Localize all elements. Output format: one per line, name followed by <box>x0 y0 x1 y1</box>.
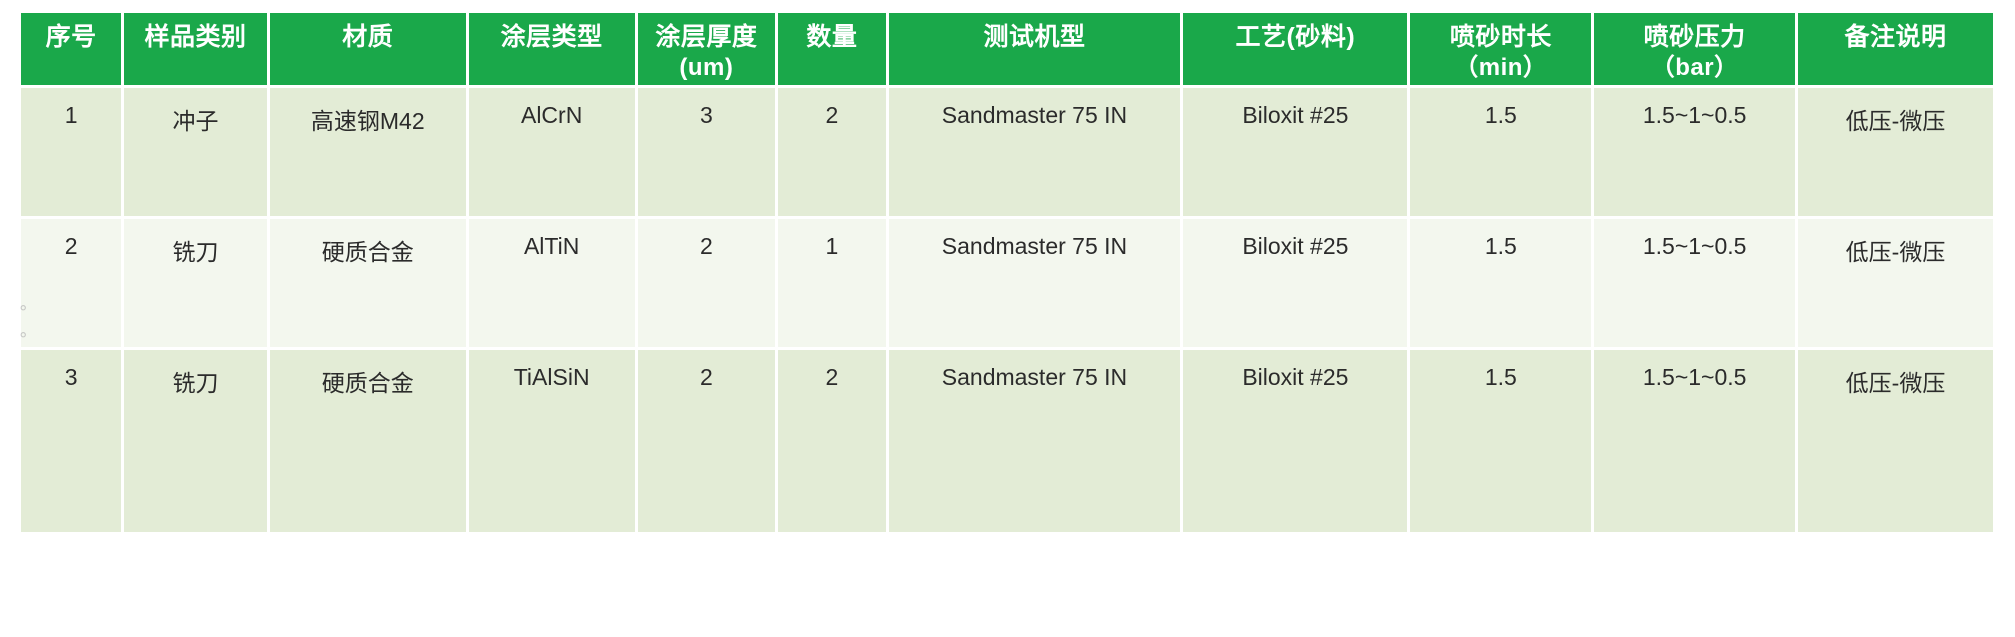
cell-note: 低压-微压 <box>1798 350 1993 532</box>
cell-process: Biloxit #25 <box>1183 88 1407 216</box>
cell-no: 1 <box>21 88 121 216</box>
cell-press: 1.5~1~0.5 <box>1594 350 1795 532</box>
cell-press: 1.5~1~0.5 <box>1594 219 1795 347</box>
cell-qty: 2 <box>778 350 885 532</box>
cell-time: 1.5 <box>1410 88 1591 216</box>
cell-time: 1.5 <box>1410 219 1591 347</box>
column-header-label: 涂层类型 <box>501 23 603 51</box>
cell-cat: 冲子 <box>124 88 266 216</box>
column-header-coat[interactable]: 涂层类型 <box>469 13 635 85</box>
edge-artifact-glyph: ∘ <box>18 325 29 344</box>
cell-cat: 铣刀 <box>124 219 266 347</box>
table-header-row: 序号 样品类别 材质 涂层类型 涂层厚度 (um) <box>21 13 1993 85</box>
column-header-label: 工艺(砂料) <box>1236 23 1356 51</box>
table-body: 1 冲子 高速钢M42 AlCrN 3 2 Sandmaster 75 IN B… <box>21 88 1993 532</box>
cell-machine: Sandmaster 75 IN <box>889 88 1181 216</box>
cell-mat: 硬质合金 <box>270 350 466 532</box>
column-header-mat[interactable]: 材质 <box>270 13 466 85</box>
column-header-machine[interactable]: 测试机型 <box>889 13 1181 85</box>
cell-process: Biloxit #25 <box>1183 350 1407 532</box>
table-row[interactable]: 2 铣刀 硬质合金 AlTiN 2 1 Sandmaster 75 IN Bil… <box>21 219 1993 347</box>
cell-machine: Sandmaster 75 IN <box>889 350 1181 532</box>
cell-press: 1.5~1~0.5 <box>1594 88 1795 216</box>
column-header-blast-pressure[interactable]: 喷砂压力 （bar） <box>1594 13 1795 85</box>
cell-qty: 1 <box>778 219 885 347</box>
column-header-cat[interactable]: 样品类别 <box>124 13 266 85</box>
column-header-label: 数量 <box>806 23 857 51</box>
cell-cat: 铣刀 <box>124 350 266 532</box>
cell-thick: 2 <box>638 350 776 532</box>
spec-table-container: ∘ ∘ 序号 样品类别 材质 <box>18 10 1996 623</box>
column-header-note[interactable]: 备注说明 <box>1798 13 1993 85</box>
cell-no: 3 <box>21 350 121 532</box>
cell-thick: 3 <box>638 88 776 216</box>
column-header-qty[interactable]: 数量 <box>778 13 885 85</box>
column-header-label: 样品类别 <box>145 23 247 51</box>
column-header-label: 备注说明 <box>1845 23 1947 51</box>
cell-process: Biloxit #25 <box>1183 219 1407 347</box>
cell-time: 1.5 <box>1410 350 1591 532</box>
column-header-unit: (um) <box>640 53 774 82</box>
table-row[interactable]: 1 冲子 高速钢M42 AlCrN 3 2 Sandmaster 75 IN B… <box>21 88 1993 216</box>
column-header-no[interactable]: 序号 <box>21 13 121 85</box>
column-header-label: 序号 <box>46 23 97 51</box>
column-header-unit: （min） <box>1412 53 1589 82</box>
cell-machine: Sandmaster 75 IN <box>889 219 1181 347</box>
edge-artifact-glyph: ∘ <box>18 298 29 317</box>
cell-no: 2 <box>21 219 121 347</box>
table-header: 序号 样品类别 材质 涂层类型 涂层厚度 (um) <box>21 13 1993 85</box>
cell-thick: 2 <box>638 219 776 347</box>
column-header-label: 喷砂压力 <box>1644 23 1746 51</box>
column-header-thickness[interactable]: 涂层厚度 (um) <box>638 13 776 85</box>
cell-mat: 高速钢M42 <box>270 88 466 216</box>
column-header-process[interactable]: 工艺(砂料) <box>1183 13 1407 85</box>
table-row[interactable]: 3 铣刀 硬质合金 TiAlSiN 2 2 Sandmaster 75 IN B… <box>21 350 1993 532</box>
column-header-label: 涂层厚度 <box>655 23 757 51</box>
cell-note: 低压-微压 <box>1798 219 1993 347</box>
column-header-blast-time[interactable]: 喷砂时长 （min） <box>1410 13 1591 85</box>
cell-coat: AlTiN <box>469 219 635 347</box>
cell-coat: TiAlSiN <box>469 350 635 532</box>
column-header-label: 材质 <box>342 23 393 51</box>
column-header-label: 喷砂时长 <box>1450 23 1552 51</box>
cell-mat: 硬质合金 <box>270 219 466 347</box>
column-header-label: 测试机型 <box>983 23 1085 51</box>
cell-qty: 2 <box>778 88 885 216</box>
cell-note: 低压-微压 <box>1798 88 1993 216</box>
cell-coat: AlCrN <box>469 88 635 216</box>
column-header-unit: （bar） <box>1596 53 1793 82</box>
sample-spec-table: 序号 样品类别 材质 涂层类型 涂层厚度 (um) <box>18 10 1996 535</box>
